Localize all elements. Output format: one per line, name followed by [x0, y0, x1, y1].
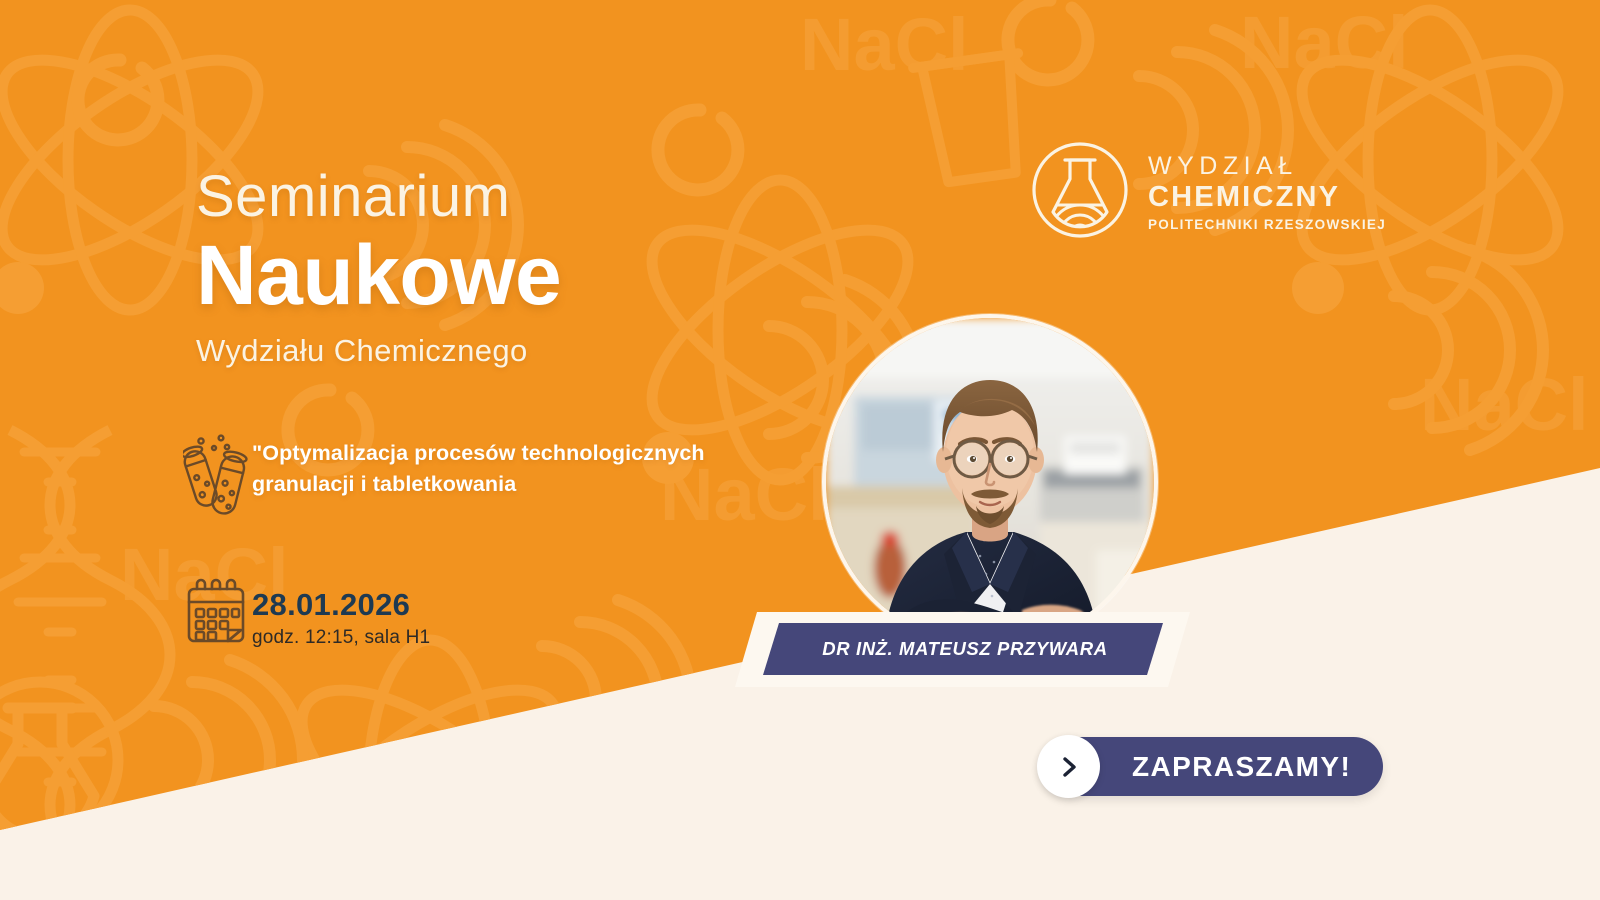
- logo-line-chemiczny: CHEMICZNY: [1148, 181, 1386, 213]
- cta-label: ZAPRASZAMY!: [1132, 751, 1351, 783]
- topic-row: "Optymalizacja procesów technologicznych…: [180, 432, 740, 524]
- event-time-room: godz. 12:15, sala H1: [252, 627, 430, 649]
- event-date: 28.01.2026: [252, 578, 430, 622]
- speaker-name-banner: DR INŻ. MATEUSZ PRZYWARA: [735, 612, 1205, 690]
- banner-navy-plate: DR INŻ. MATEUSZ PRZYWARA: [763, 623, 1163, 675]
- title-line-seminarium: Seminarium: [196, 168, 816, 226]
- title-line-faculty: Wydziału Chemicznego: [196, 333, 816, 369]
- zapraszamy-button[interactable]: ZAPRASZAMY!: [1040, 737, 1383, 796]
- test-tubes-icon: [180, 432, 252, 524]
- headline-block: Seminarium Naukowe Wydziału Chemicznego: [196, 168, 816, 369]
- logo-line-wydzial: WYDZIAŁ: [1148, 152, 1386, 181]
- topic-title: "Optymalizacja procesów technologicznych…: [252, 432, 740, 500]
- logo-line-politechniki: POLITECHNIKI RZESZOWSKIEJ: [1148, 217, 1386, 233]
- speaker-portrait: [822, 314, 1158, 650]
- svg-text:NaCl: NaCl: [800, 3, 969, 86]
- calendar-icon: [180, 578, 252, 646]
- chevron-right-icon[interactable]: [1037, 735, 1100, 798]
- title-line-naukowe: Naukowe: [196, 230, 816, 321]
- flask-circle-logo-icon: [1030, 140, 1130, 245]
- faculty-logo: WYDZIAŁ CHEMICZNY POLITECHNIKI RZESZOWSK…: [1030, 140, 1386, 245]
- date-row: 28.01.2026 godz. 12:15, sala H1: [180, 578, 640, 649]
- speaker-name: DR INŻ. MATEUSZ PRZYWARA: [822, 638, 1107, 660]
- poster-canvas: NaCl NaCl NaCl NaCl NaCl: [0, 0, 1600, 900]
